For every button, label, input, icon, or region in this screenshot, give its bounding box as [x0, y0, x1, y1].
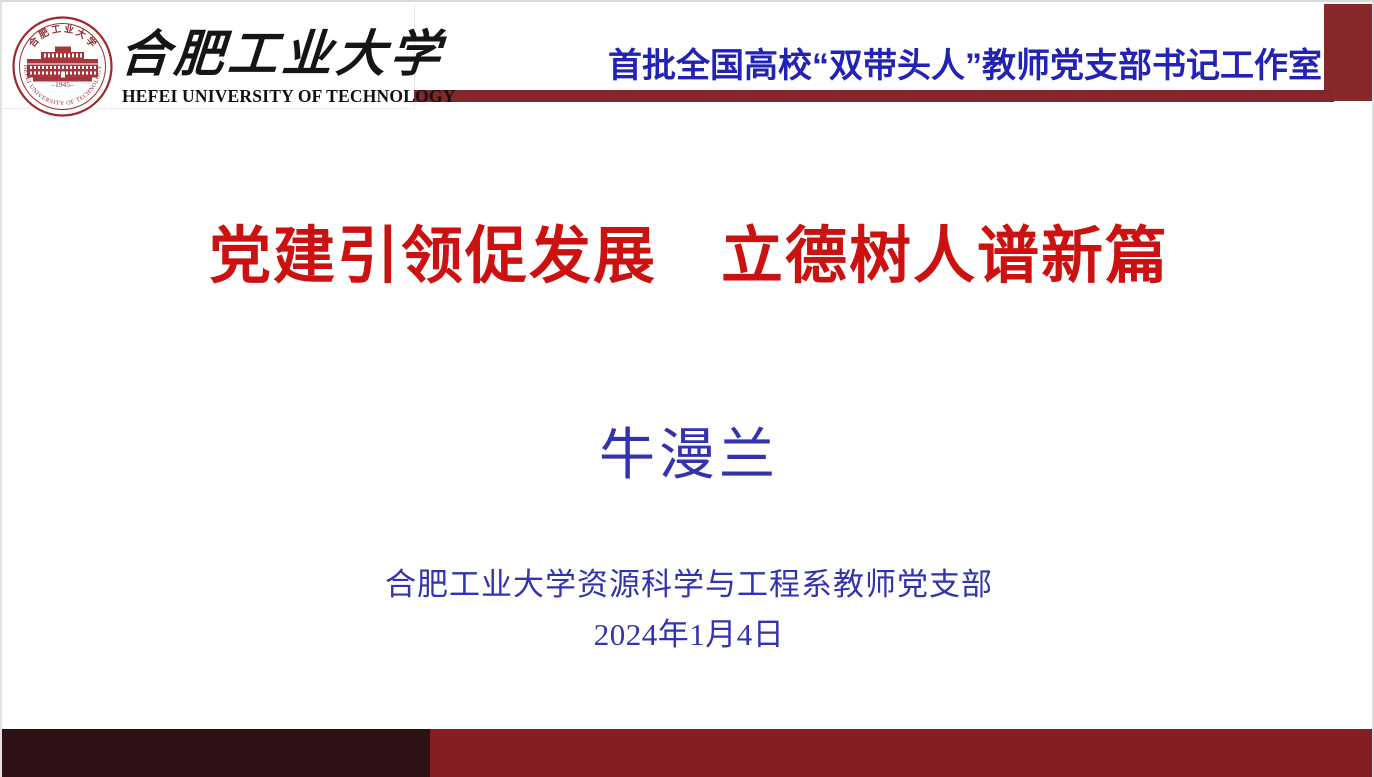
footer-left-band [2, 729, 430, 777]
slide-header: 合 肥 工 业 大 学 HEFEI UNIVERSITY OF TECHNOLO… [2, 2, 1374, 124]
university-wordmark-en: HEFEI UNIVERSITY OF TECHNOLOGY [122, 86, 410, 106]
presentation-date: 2024年1月4日 [2, 614, 1374, 656]
affiliation-text: 合肥工业大学资源科学与工程系教师党支部 [2, 564, 1374, 606]
seal-year: –1945– [50, 80, 74, 89]
slide-footer [2, 729, 1374, 777]
university-wordmark-cn: 合肥工业大学 [118, 26, 412, 82]
hefei-university-seal-icon: 合 肥 工 业 大 学 HEFEI UNIVERSITY OF TECHNOLO… [11, 15, 114, 118]
speaker-name: 牛漫兰 [2, 416, 1374, 496]
footer-right-band [430, 729, 1374, 777]
header-red-rule [414, 90, 1334, 102]
presentation-slide: 合 肥 工 业 大 学 HEFEI UNIVERSITY OF TECHNOLO… [0, 0, 1374, 777]
header-corner-block [1324, 4, 1374, 101]
workshop-banner-title: 首批全国高校“双带头人”教师党支部书记工作室 [477, 44, 1322, 88]
slide-main-title: 党建引领促发展 立德树人谱新篇 [2, 214, 1374, 300]
